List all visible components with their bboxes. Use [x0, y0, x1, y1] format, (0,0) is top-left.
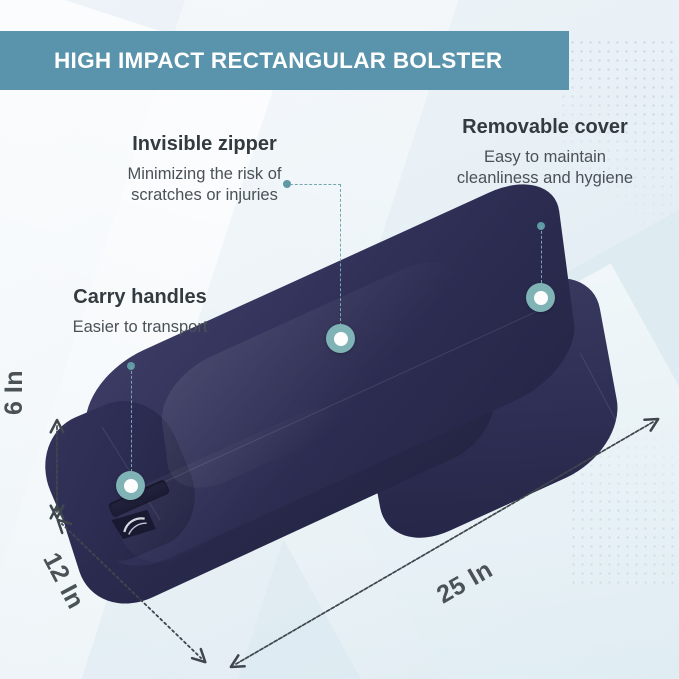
callout-carry-handles: Carry handles Easier to transport [22, 286, 258, 338]
infographic-canvas: HIGH IMPACT RECTANGULAR BOLSTER Invisibl… [0, 0, 679, 679]
callout-invisible-zipper: Invisible zipper Minimizing the risk of … [62, 133, 347, 206]
callout-title-invisible-zipper: Invisible zipper [62, 133, 347, 157]
marker-removable-cover[interactable] [526, 283, 555, 312]
callout-removable-cover: Removable cover Easy to maintain cleanli… [410, 116, 679, 189]
header-banner: HIGH IMPACT RECTANGULAR BOLSTER [0, 31, 569, 90]
callout-subtitle-line: Minimizing the risk of [62, 164, 347, 185]
connector-line-carry-handles [131, 366, 132, 472]
callout-subtitle-line: Easy to maintain [410, 147, 679, 168]
dimension-label-height: 6 In [0, 370, 29, 415]
callout-subtitle-line: scratches or injuries [62, 185, 347, 206]
connector-line-removable-cover [541, 226, 542, 283]
page-title: HIGH IMPACT RECTANGULAR BOLSTER [54, 48, 502, 74]
callout-subtitle-carry-handles: Easier to transport [22, 317, 258, 338]
callout-subtitle-line: Easier to transport [22, 317, 258, 338]
marker-carry-handles[interactable] [116, 471, 145, 500]
callout-subtitle-invisible-zipper: Minimizing the risk of scratches or inju… [62, 164, 347, 207]
callout-subtitle-line: cleanliness and hygiene [410, 168, 679, 189]
callout-title-removable-cover: Removable cover [410, 116, 679, 140]
marker-invisible-zipper[interactable] [326, 324, 355, 353]
callout-title-carry-handles: Carry handles [22, 286, 258, 310]
callout-subtitle-removable-cover: Easy to maintain cleanliness and hygiene [410, 147, 679, 190]
